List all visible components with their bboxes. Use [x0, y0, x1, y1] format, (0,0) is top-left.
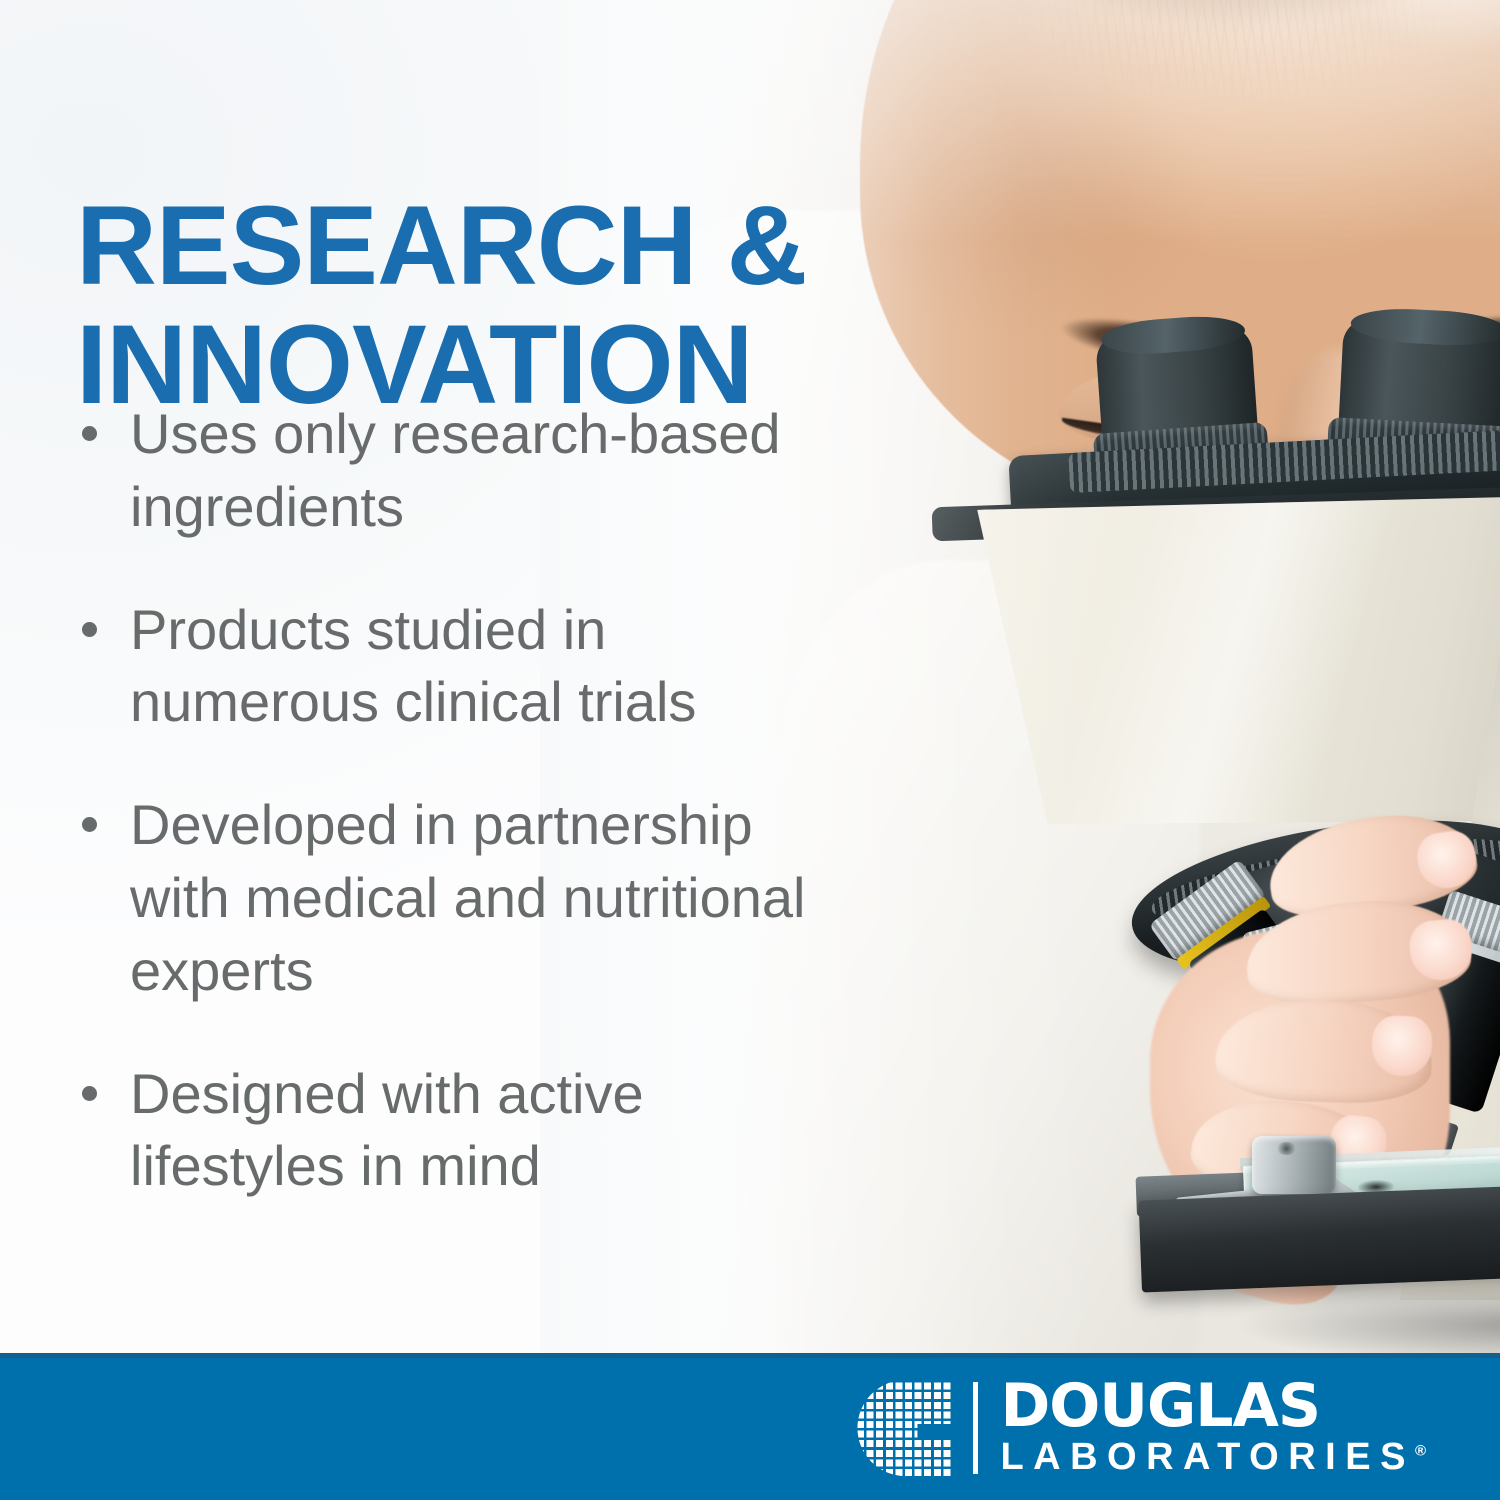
bullet-text: Uses only research-based ingredients — [130, 398, 862, 544]
bullet-dot-icon — [82, 426, 97, 441]
bullet-dot-icon — [82, 1086, 97, 1101]
list-item: Products studied in numerous clinical tr… — [72, 594, 862, 740]
footer-bar: DOUGLAS LABORATORIES® — [0, 1353, 1500, 1500]
list-item: Designed with active lifestyles in mind — [72, 1058, 862, 1204]
pixel-grid-disc — [857, 1380, 953, 1476]
brand-subtitle-text: LABORATORIES — [1000, 1436, 1415, 1478]
logo-divider — [973, 1382, 978, 1474]
list-item: Developed in partnership with medical an… — [72, 789, 862, 1007]
feature-bullet-list: Uses only research-based ingredients Pro… — [72, 398, 862, 1203]
brand-name: DOUGLAS — [1000, 1378, 1426, 1434]
bullet-text: Products studied in numerous clinical tr… — [130, 594, 862, 740]
page-title: RESEARCH & INNOVATION — [76, 187, 836, 424]
brand-subtitle: LABORATORIES® — [1000, 1438, 1426, 1478]
bullet-dot-icon — [82, 817, 97, 832]
douglas-pixel-grid-g-icon — [857, 1380, 953, 1476]
footer-top-divider — [0, 1353, 1500, 1358]
promo-graphic: RESEARCH & INNOVATION Uses only research… — [0, 0, 1500, 1500]
registered-trademark-icon: ® — [1415, 1443, 1426, 1460]
bullet-dot-icon — [82, 622, 97, 637]
logo-wordmark: DOUGLAS LABORATORIES® — [1000, 1378, 1426, 1478]
list-item: Uses only research-based ingredients — [72, 398, 862, 544]
bullet-text: Designed with active lifestyles in mind — [130, 1058, 862, 1204]
bullet-text: Developed in partnership with medical an… — [130, 789, 862, 1007]
headline-line-1: RESEARCH & — [76, 183, 807, 308]
douglas-laboratories-logo: DOUGLAS LABORATORIES® — [857, 1375, 1426, 1481]
